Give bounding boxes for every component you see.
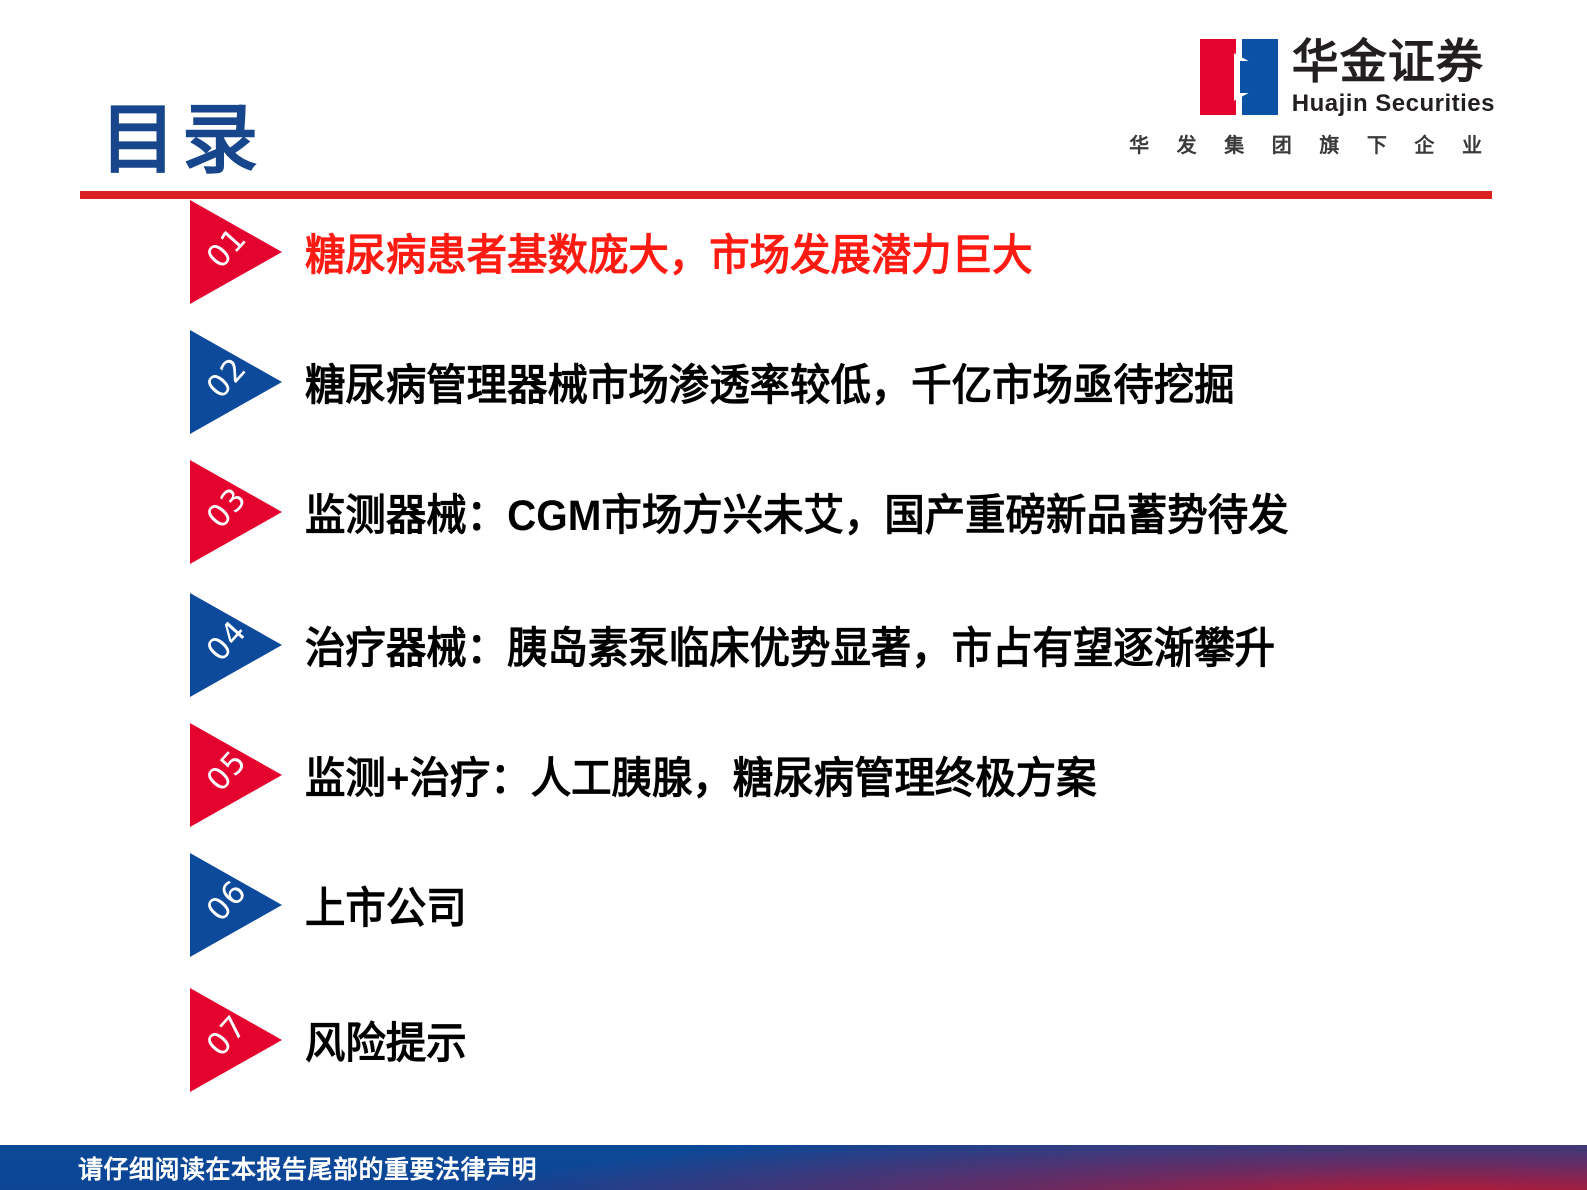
brand-logo: 华金证券 Huajin Securities 华 发 集 团 旗 下 企 业 bbox=[1155, 38, 1495, 158]
toc-item-01[interactable]: 01糖尿病患者基数庞大，市场发展潜力巨大 bbox=[0, 200, 1587, 304]
toc-arrow-icon: 01 bbox=[190, 200, 282, 304]
toc-item-06[interactable]: 06上市公司 bbox=[0, 853, 1587, 957]
toc-item-label: 监测+治疗：人工胰腺，糖尿病管理终极方案 bbox=[305, 744, 1097, 806]
header-divider bbox=[80, 191, 1492, 199]
toc-item-05[interactable]: 05监测+治疗：人工胰腺，糖尿病管理终极方案 bbox=[0, 723, 1587, 827]
brand-name-cn: 华金证券 bbox=[1292, 38, 1495, 85]
toc-item-04[interactable]: 04治疗器械：胰岛素泵临床优势显著，市占有望逐渐攀升 bbox=[0, 593, 1587, 697]
toc-item-label: 糖尿病患者基数庞大，市场发展潜力巨大 bbox=[305, 221, 1033, 283]
toc-item-07[interactable]: 07风险提示 bbox=[0, 988, 1587, 1092]
toc-arrow-icon: 07 bbox=[190, 988, 282, 1092]
huajin-h-mark-icon bbox=[1200, 39, 1278, 115]
toc-item-label: 上市公司 bbox=[305, 874, 467, 936]
toc-item-label: 糖尿病管理器械市场渗透率较低，千亿市场亟待挖掘 bbox=[305, 351, 1235, 413]
brand-names: 华金证券 Huajin Securities bbox=[1292, 38, 1495, 116]
footer-bar: 请仔细阅读在本报告尾部的重要法律声明 bbox=[0, 1145, 1587, 1190]
slide-root: 目录 华金证券 Huajin Securities 华 发 集 团 旗 下 企 … bbox=[0, 0, 1587, 1190]
brand-name-en: Huajin Securities bbox=[1292, 92, 1495, 116]
toc-arrow-icon: 04 bbox=[190, 593, 282, 697]
toc-item-label: 风险提示 bbox=[305, 1009, 467, 1071]
page-title: 目录 bbox=[100, 103, 264, 179]
toc-item-label: 治疗器械：胰岛素泵临床优势显著，市占有望逐渐攀升 bbox=[305, 614, 1275, 676]
brand-subtitle: 华 发 集 团 旗 下 企 业 bbox=[1129, 129, 1495, 158]
toc-item-02[interactable]: 02糖尿病管理器械市场渗透率较低，千亿市场亟待挖掘 bbox=[0, 330, 1587, 434]
toc-arrow-icon: 03 bbox=[190, 460, 282, 564]
toc-arrow-icon: 05 bbox=[190, 723, 282, 827]
toc-item-label: 监测器械：CGM市场方兴未艾，国产重磅新品蓄势待发 bbox=[305, 481, 1289, 543]
toc-arrow-icon: 06 bbox=[190, 853, 282, 957]
toc-arrow-icon: 02 bbox=[190, 330, 282, 434]
footer-disclaimer: 请仔细阅读在本报告尾部的重要法律声明 bbox=[78, 1150, 537, 1186]
toc-item-03[interactable]: 03监测器械：CGM市场方兴未艾，国产重磅新品蓄势待发 bbox=[0, 460, 1587, 564]
brand-logo-row: 华金证券 Huajin Securities bbox=[1200, 38, 1495, 116]
